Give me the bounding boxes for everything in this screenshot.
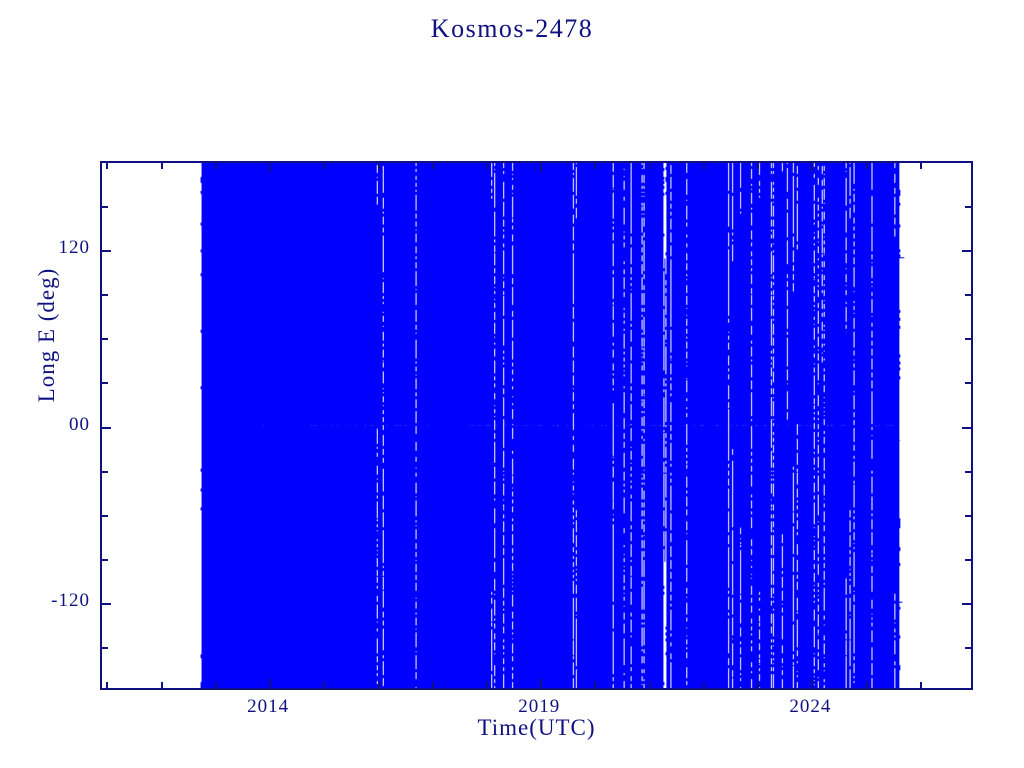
tick-mark <box>962 250 971 252</box>
tick-mark <box>920 163 922 169</box>
tick-mark <box>106 682 108 688</box>
tick-mark <box>102 250 111 252</box>
tick-mark <box>269 163 271 172</box>
tick-mark <box>866 163 868 169</box>
tick-mark <box>866 682 868 688</box>
tick-mark <box>269 679 271 688</box>
tick-mark <box>811 679 813 688</box>
tick-mark <box>703 682 705 688</box>
tick-mark <box>649 163 651 169</box>
tick-mark <box>161 682 163 688</box>
tick-mark <box>102 559 108 561</box>
tick-mark <box>757 163 759 169</box>
tick-mark <box>965 471 971 473</box>
tick-mark <box>102 382 108 384</box>
tick-mark <box>106 163 108 169</box>
tick-mark <box>323 682 325 688</box>
tick-mark <box>102 515 108 517</box>
tick-mark <box>965 206 971 208</box>
data-series-canvas <box>102 163 971 688</box>
tick-mark <box>962 603 971 605</box>
page-title: Kosmos-2478 <box>0 14 1024 44</box>
tick-mark <box>215 163 217 169</box>
tick-mark <box>965 382 971 384</box>
tick-mark <box>594 163 596 169</box>
tick-mark <box>323 163 325 169</box>
tick-mark <box>378 682 380 688</box>
y-tick-label: -120 <box>28 590 90 612</box>
tick-mark <box>486 163 488 169</box>
tick-mark <box>962 427 971 429</box>
tick-mark <box>811 163 813 172</box>
tick-mark <box>540 679 542 688</box>
tick-mark <box>757 682 759 688</box>
tick-mark <box>102 427 111 429</box>
plot-area <box>100 161 973 690</box>
tick-mark <box>703 163 705 169</box>
tick-mark <box>102 338 108 340</box>
tick-mark <box>965 647 971 649</box>
tick-mark <box>432 682 434 688</box>
tick-mark <box>102 603 111 605</box>
x-axis-title: Time(UTC) <box>100 715 973 741</box>
tick-mark <box>486 682 488 688</box>
tick-mark <box>378 163 380 169</box>
tick-mark <box>215 682 217 688</box>
y-axis-title: Long E (deg) <box>34 205 60 465</box>
tick-mark <box>649 682 651 688</box>
tick-mark <box>594 682 596 688</box>
tick-mark <box>102 471 108 473</box>
tick-mark <box>965 515 971 517</box>
tick-mark <box>432 163 434 169</box>
tick-mark <box>965 338 971 340</box>
tick-mark <box>161 163 163 169</box>
chart-page: Kosmos-2478 12000-120 201420192024 Long … <box>0 0 1024 768</box>
tick-mark <box>920 682 922 688</box>
tick-mark <box>102 294 108 296</box>
tick-mark <box>965 559 971 561</box>
tick-mark <box>540 163 542 172</box>
tick-mark <box>965 294 971 296</box>
tick-mark <box>102 647 108 649</box>
tick-mark <box>102 206 108 208</box>
